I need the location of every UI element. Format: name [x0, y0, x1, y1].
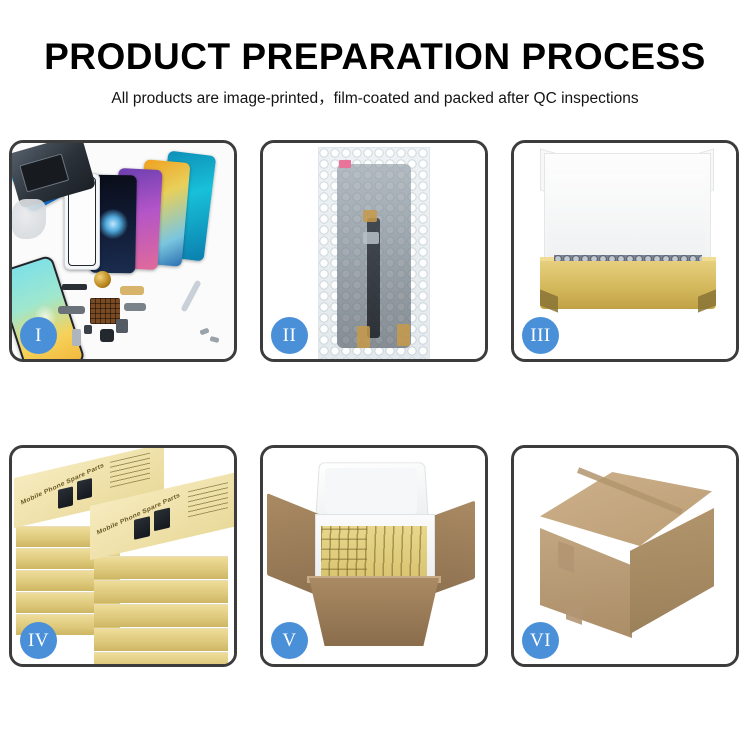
step-badge-1: I — [20, 317, 57, 354]
process-step-panel-3[interactable]: III — [511, 140, 739, 362]
tape-strip-left — [357, 326, 370, 348]
part-flex-cable-1 — [58, 306, 85, 314]
box-side-front-5 — [94, 556, 228, 579]
box-lid-spec-lines-rear — [110, 453, 150, 488]
process-step-panel-5[interactable]: V — [260, 445, 488, 667]
box-side-front-3 — [94, 604, 228, 627]
part-hand-holder — [12, 199, 46, 239]
box-lid-thumb-rear-1 — [58, 486, 73, 508]
part-black-strip — [62, 284, 87, 290]
carton-tape-upper — [558, 541, 574, 573]
box-side-front-2 — [94, 628, 228, 651]
part-button — [84, 325, 92, 334]
box-lid-thumb-rear-2 — [77, 478, 92, 500]
box-side-front-4 — [94, 580, 228, 603]
process-step-panel-2[interactable]: II — [260, 140, 488, 362]
page-header: PRODUCT PREPARATION PROCESS All products… — [0, 0, 750, 125]
packed-yellow-boxes — [321, 526, 427, 580]
process-step-panel-4[interactable]: Mobile Phone Spare Parts Mobile Phone Sp… — [9, 445, 237, 667]
process-step-panel-6[interactable]: VI — [511, 445, 739, 667]
tape-strip-right — [397, 324, 410, 346]
page-title: PRODUCT PREPARATION PROCESS — [0, 36, 750, 78]
foam-sheet — [548, 173, 705, 265]
part-speaker — [116, 319, 128, 333]
pink-qc-label — [339, 160, 351, 168]
part-pry-tool — [180, 280, 201, 313]
tape-strip-top — [363, 210, 377, 222]
part-flex-cable-3 — [124, 303, 146, 311]
part-sim-tray — [72, 329, 81, 346]
carton-left-face — [540, 528, 632, 638]
box-lid-spec-lines-front — [188, 482, 228, 517]
foam-lid-inner — [325, 468, 417, 514]
flex-connector — [363, 232, 379, 244]
part-flex-cable-2 — [120, 286, 144, 295]
step-badge-3: III — [522, 317, 559, 354]
carton-tape-lower — [566, 597, 582, 625]
step-badge-2: II — [271, 317, 308, 354]
step-badge-6: VI — [522, 622, 559, 659]
box-tray-front — [540, 261, 716, 309]
part-copper-coil — [94, 271, 111, 288]
box-lid-thumb-front-1 — [134, 516, 150, 540]
step-badge-4: IV — [20, 622, 57, 659]
bubble-wrap-bag — [318, 147, 430, 359]
process-step-grid: I II III — [9, 140, 741, 685]
part-screw-2 — [210, 336, 220, 343]
step-badge-5: V — [271, 622, 308, 659]
part-screw-1 — [199, 328, 209, 336]
carton-body — [309, 578, 439, 646]
page-subtitle: All products are image-printed，film-coat… — [0, 86, 750, 108]
box-lid-thumb-front-2 — [154, 508, 170, 532]
box-side-front-1 — [94, 652, 228, 664]
part-camera-module — [100, 329, 114, 342]
process-step-panel-1[interactable]: I — [9, 140, 237, 362]
